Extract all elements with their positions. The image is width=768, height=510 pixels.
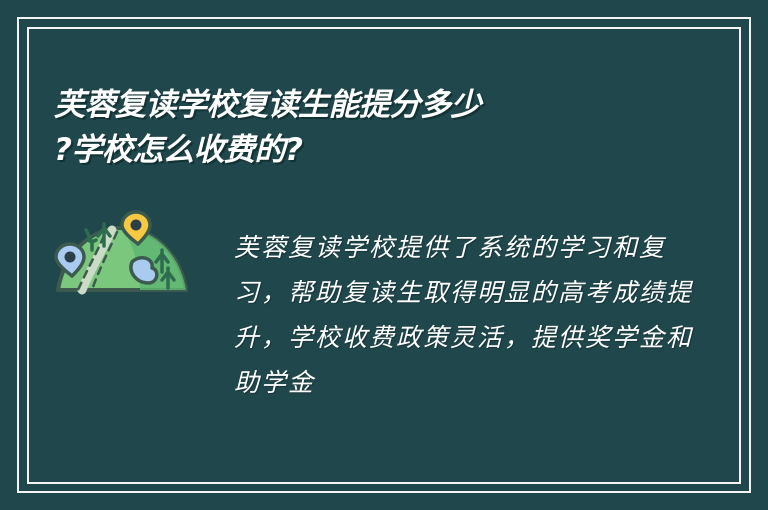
yellow-pin-core [131,220,142,231]
map-hill-illustration [54,210,190,296]
article-summary-text: 芙蓉复读学校提供了系统的学习和复习，帮助复读生取得明显的高考成绩提升，学校收费政… [234,225,714,405]
page-title: 芙蓉复读学校复读生能提分多少 ?学校怎么收费的? [54,83,694,173]
article-card: 芙蓉复读学校复读生能提分多少 ?学校怎么收费的? [0,0,768,510]
blue-pin-core [65,252,76,263]
content-block: 芙蓉复读学校提供了系统的学习和复习，帮助复读生取得明显的高考成绩提升，学校收费政… [54,200,714,430]
map-icon-svg [54,210,190,296]
